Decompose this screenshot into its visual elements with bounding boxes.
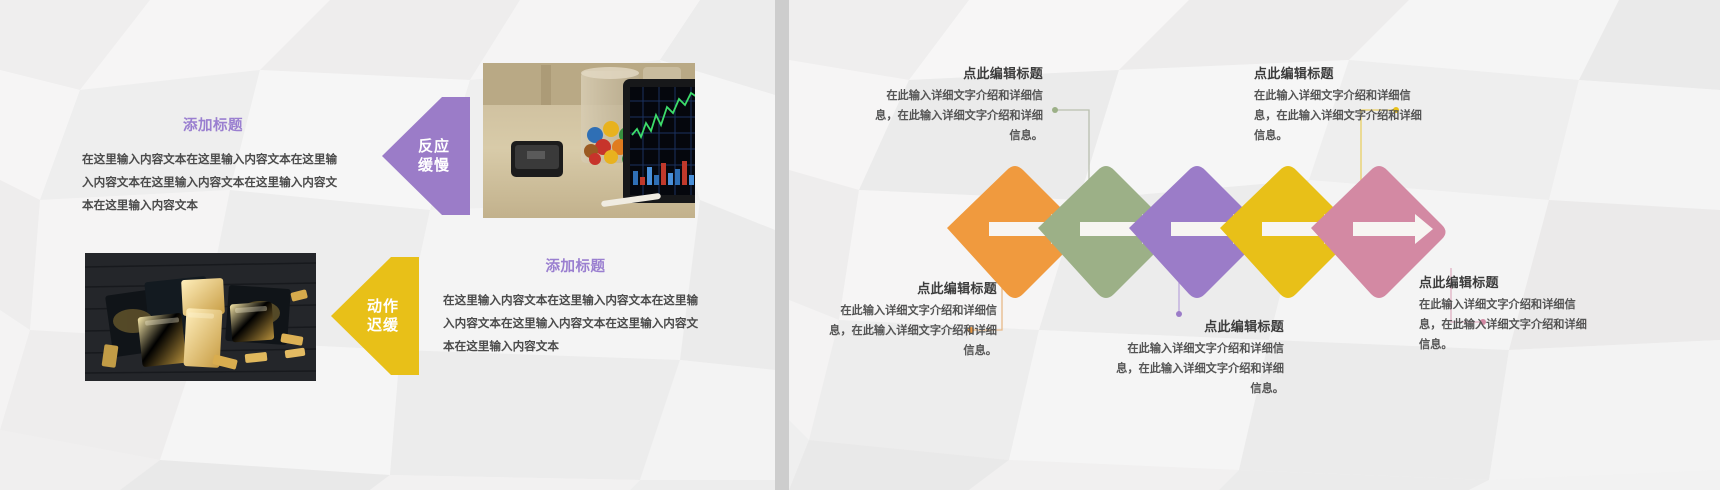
caption-1-title[interactable]: 点此编辑标题 bbox=[865, 63, 1043, 82]
left-text-block-2: 添加标题 在这里输入内容文本在这里输入内容文本在这里输入内容文本在这里输入内容文… bbox=[443, 255, 708, 359]
arrow-yellow-label-line2: 迟缓 bbox=[367, 316, 399, 335]
caption-5-title[interactable]: 点此编辑标题 bbox=[1419, 272, 1597, 291]
caption-2-title[interactable]: 点此编辑标题 bbox=[819, 278, 997, 297]
photo-gold-bars bbox=[85, 253, 316, 381]
caption-3-body[interactable]: 在此输入详细文字介绍和详细信息，在此输入详细文字介绍和详细信息。 bbox=[1106, 340, 1284, 400]
caption-block-5: 点此编辑标题 在此输入详细文字介绍和详细信息，在此输入详细文字介绍和详细信息。 bbox=[1419, 272, 1597, 356]
left-block-1-title[interactable]: 添加标题 bbox=[82, 114, 344, 135]
slide-right: 点此编辑标题 在此输入详细文字介绍和详细信息，在此输入详细文字介绍和详细信息。 … bbox=[789, 0, 1720, 490]
slide-divider bbox=[775, 0, 789, 490]
photo-tablet-stock-chart bbox=[483, 63, 695, 218]
caption-5-body[interactable]: 在此输入详细文字介绍和详细信息，在此输入详细文字介绍和详细信息。 bbox=[1419, 296, 1597, 356]
arrow-yellow-label-line1: 动作 bbox=[367, 297, 399, 316]
arrow-yellow-label: 动作 迟缓 bbox=[331, 257, 419, 375]
arrow-purple-label-line2: 缓慢 bbox=[418, 156, 450, 175]
caption-block-1: 点此编辑标题 在此输入详细文字介绍和详细信息，在此输入详细文字介绍和详细信息。 bbox=[865, 63, 1043, 147]
arrow-shape-yellow[interactable]: 动作 迟缓 bbox=[331, 257, 419, 375]
caption-4-body[interactable]: 在此输入详细文字介绍和详细信息，在此输入详细文字介绍和详细信息。 bbox=[1254, 87, 1432, 147]
arrow-purple-label-line1: 反应 bbox=[418, 137, 450, 156]
caption-3-title[interactable]: 点此编辑标题 bbox=[1106, 316, 1284, 335]
caption-4-title[interactable]: 点此编辑标题 bbox=[1254, 63, 1432, 82]
caption-block-4: 点此编辑标题 在此输入详细文字介绍和详细信息，在此输入详细文字介绍和详细信息。 bbox=[1254, 63, 1432, 147]
connector-line-2 bbox=[1057, 110, 1089, 186]
left-text-block-1: 添加标题 在这里输入内容文本在这里输入内容文本在这里输入内容文本在这里输入内容文… bbox=[82, 114, 344, 218]
arrow-purple-label: 反应 缓慢 bbox=[382, 97, 470, 215]
slide-left: 添加标题 在这里输入内容文本在这里输入内容文本在这里输入内容文本在这里输入内容文… bbox=[0, 0, 775, 490]
slide-deck: 添加标题 在这里输入内容文本在这里输入内容文本在这里输入内容文本在这里输入内容文… bbox=[0, 0, 1720, 490]
left-block-1-body[interactable]: 在这里输入内容文本在这里输入内容文本在这里输入内容文本在这里输入内容文本在这里输… bbox=[82, 148, 344, 218]
caption-block-3: 点此编辑标题 在此输入详细文字介绍和详细信息，在此输入详细文字介绍和详细信息。 bbox=[1106, 316, 1284, 400]
caption-2-body[interactable]: 在此输入详细文字介绍和详细信息，在此输入详细文字介绍和详细信息。 bbox=[819, 302, 997, 362]
caption-block-2: 点此编辑标题 在此输入详细文字介绍和详细信息，在此输入详细文字介绍和详细信息。 bbox=[819, 278, 997, 362]
connector-dot-2 bbox=[1052, 107, 1058, 113]
caption-1-body[interactable]: 在此输入详细文字介绍和详细信息，在此输入详细文字介绍和详细信息。 bbox=[865, 87, 1043, 147]
left-block-2-title[interactable]: 添加标题 bbox=[443, 255, 708, 276]
arrow-shape-purple[interactable]: 反应 缓慢 bbox=[382, 97, 470, 215]
left-block-2-body[interactable]: 在这里输入内容文本在这里输入内容文本在这里输入内容文本在这里输入内容文本在这里输… bbox=[443, 289, 708, 359]
